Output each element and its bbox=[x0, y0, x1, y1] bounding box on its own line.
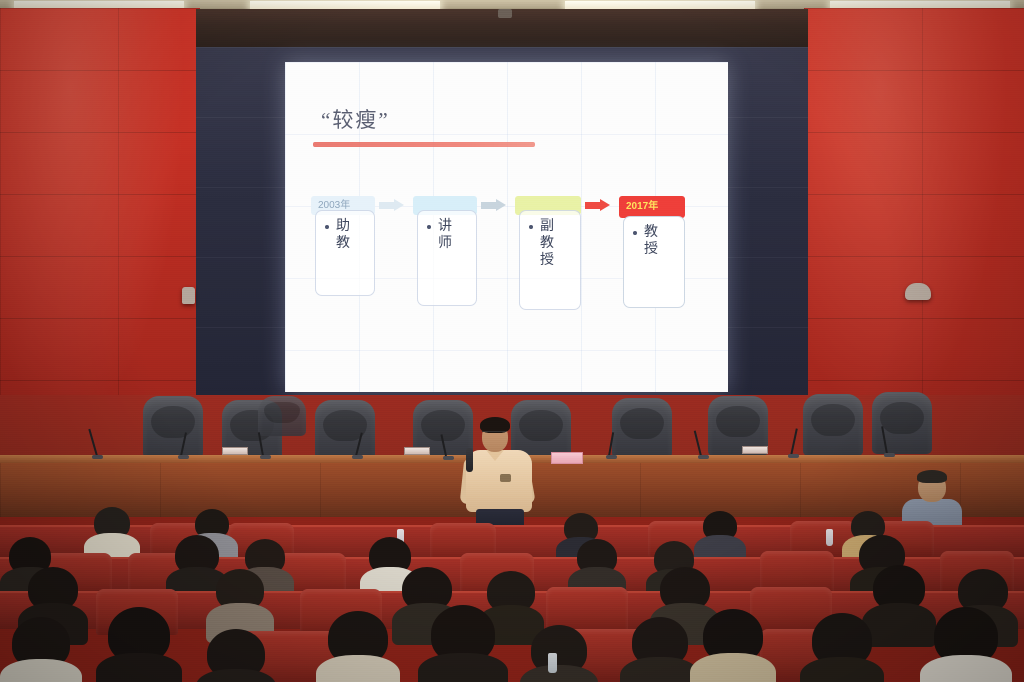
wall-speaker-icon bbox=[905, 283, 931, 300]
pink-card-on-table bbox=[551, 452, 583, 464]
stage-chair bbox=[872, 392, 932, 454]
audience-member bbox=[316, 611, 400, 682]
water-bottle bbox=[548, 653, 557, 673]
microphone-base bbox=[352, 455, 363, 459]
audience-shoulders bbox=[620, 657, 700, 682]
audience-member bbox=[520, 625, 598, 682]
timeline-role-label: 教授 bbox=[644, 224, 662, 258]
projection-screen: “较瘦” 2003年 助教 讲师 bbox=[285, 62, 728, 392]
audience-member bbox=[0, 617, 82, 682]
microphone-base bbox=[443, 456, 454, 460]
microphone-base bbox=[788, 454, 799, 458]
stage-chair bbox=[315, 400, 375, 460]
stage-chair bbox=[612, 398, 672, 458]
microphone-base bbox=[260, 455, 271, 459]
microphone-base bbox=[884, 453, 895, 457]
audience-member bbox=[418, 605, 508, 682]
nameplate bbox=[222, 447, 248, 455]
slide-title-underline bbox=[313, 142, 535, 147]
audience-shoulders bbox=[800, 657, 884, 682]
timeline-role-label: 助教 bbox=[336, 218, 354, 252]
bullet-icon bbox=[529, 225, 533, 229]
audience-shoulders bbox=[920, 655, 1012, 682]
audience-shoulders bbox=[520, 665, 598, 682]
standing-attendee-hair bbox=[917, 470, 947, 483]
bullet-icon bbox=[633, 231, 637, 235]
presenter-shirt bbox=[466, 450, 532, 512]
slide-title: “较瘦” bbox=[321, 104, 390, 134]
microphone-base bbox=[698, 455, 709, 459]
presenter-shirt-logo bbox=[500, 474, 511, 482]
stage-chair bbox=[258, 396, 306, 436]
timeline-card: 教授 bbox=[623, 216, 685, 308]
nameplate bbox=[742, 446, 768, 454]
microphone-base bbox=[92, 455, 103, 459]
audience-member bbox=[196, 629, 276, 682]
audience-shoulders bbox=[316, 655, 400, 682]
arrow-right-icon bbox=[585, 199, 611, 212]
stage-chair bbox=[803, 394, 863, 456]
arrow-right-icon bbox=[481, 199, 507, 212]
timeline-role-label: 讲师 bbox=[438, 218, 456, 252]
audience-shoulders bbox=[690, 653, 776, 682]
stage-chair bbox=[143, 396, 203, 458]
timeline-role-label: 副教授 bbox=[540, 218, 558, 269]
timeline-card: 副教授 bbox=[519, 210, 581, 310]
water-bottle bbox=[826, 529, 833, 546]
audience-shoulders bbox=[196, 669, 276, 682]
audience-member bbox=[800, 613, 884, 682]
bullet-icon bbox=[427, 225, 431, 229]
timeline-card: 助教 bbox=[315, 210, 375, 296]
microphone-base bbox=[606, 455, 617, 459]
glasses-icon bbox=[482, 431, 506, 436]
audience-member bbox=[920, 607, 1012, 682]
audience-shoulders bbox=[96, 653, 182, 682]
audience-member bbox=[96, 607, 182, 682]
timeline-card: 讲师 bbox=[417, 210, 477, 306]
timeline-year-tag: 2017年 bbox=[619, 196, 685, 218]
arrow-right-icon bbox=[379, 199, 405, 212]
nameplate bbox=[404, 447, 430, 455]
career-timeline: 2003年 助教 讲师 副教授 bbox=[311, 196, 703, 326]
valance-mount-clip bbox=[498, 9, 512, 18]
audience-member bbox=[690, 609, 776, 682]
microphone-base bbox=[178, 455, 189, 459]
audience-shoulders bbox=[418, 653, 508, 682]
audience-member bbox=[620, 617, 700, 682]
audience-area bbox=[0, 505, 1024, 682]
handheld-microphone-icon bbox=[466, 448, 473, 472]
lecture-hall-photo: “较瘦” 2003年 助教 讲师 bbox=[0, 0, 1024, 682]
wall-light-icon bbox=[182, 287, 195, 304]
bullet-icon bbox=[325, 225, 329, 229]
audience-shoulders bbox=[0, 659, 82, 682]
